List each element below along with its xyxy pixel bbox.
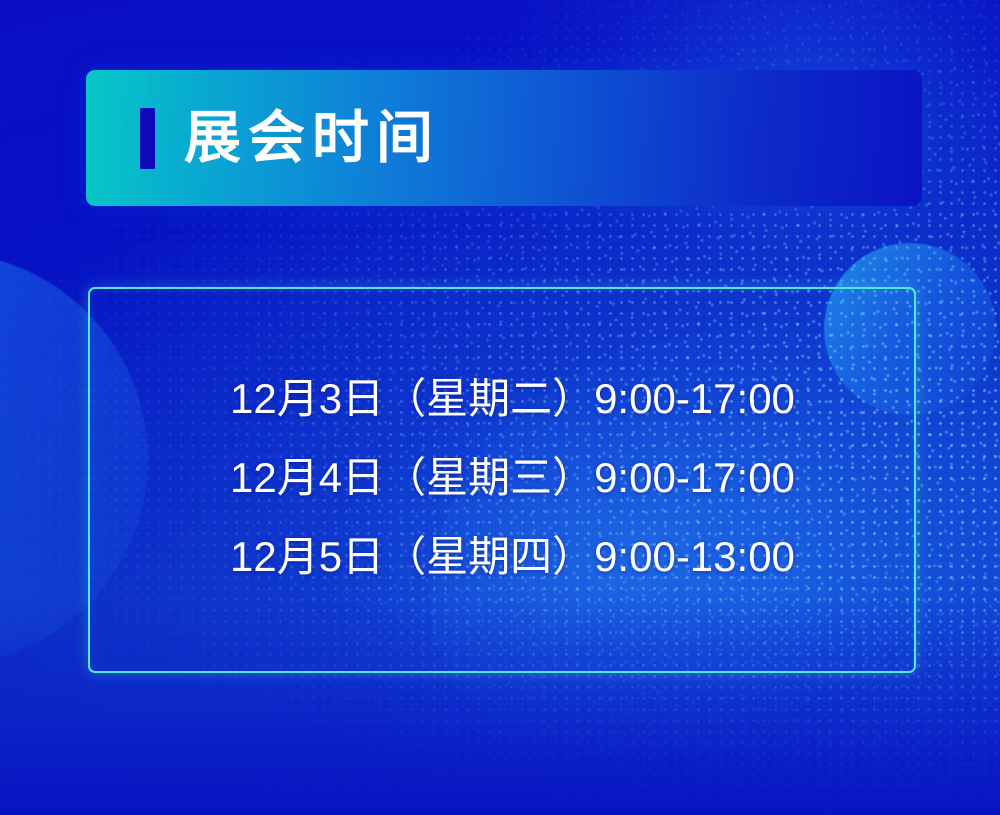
schedule-line-3: 12月5日（星期四）9:00-13:00 <box>230 517 795 596</box>
title-accent-bar <box>140 108 155 169</box>
header-banner-inner: 展会时间 <box>86 70 922 206</box>
schedule-line-1: 12月3日（星期二）9:00-17:00 <box>230 359 795 438</box>
exhibition-time-poster: 展会时间 12月3日（星期二）9:00-17:00 12月4日（星期三）9:00… <box>0 0 1000 815</box>
page-title: 展会时间 <box>184 110 440 167</box>
schedule-list: 12月3日（星期二）9:00-17:00 12月4日（星期三）9:00-17:0… <box>230 359 795 596</box>
schedule-panel: 12月3日（星期二）9:00-17:00 12月4日（星期三）9:00-17:0… <box>88 287 916 673</box>
header-banner: 展会时间 <box>86 70 922 206</box>
schedule-line-2: 12月4日（星期三）9:00-17:00 <box>230 438 795 517</box>
